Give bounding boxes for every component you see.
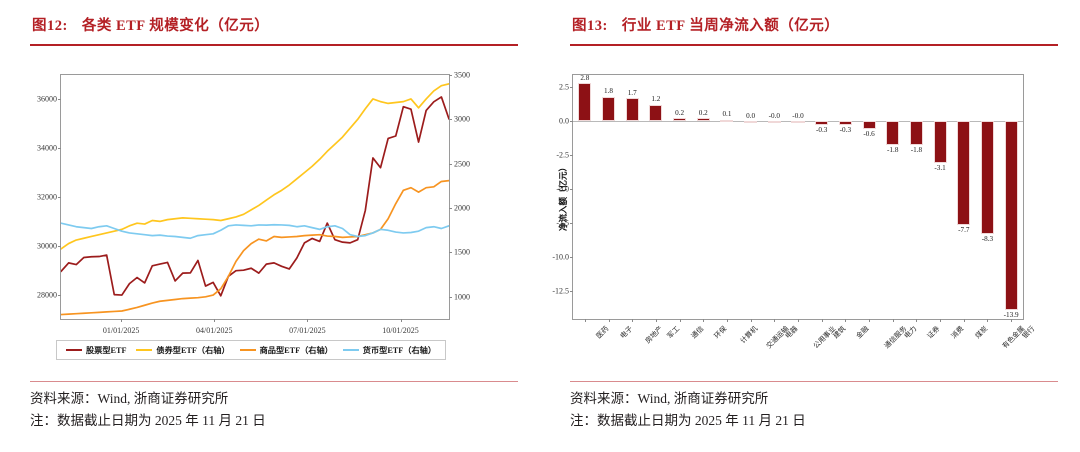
bar-y-axis-tick-label: -12.5 — [552, 286, 569, 295]
bar-category-label: 通信 — [689, 324, 706, 341]
bar-x-axis-tick-mark — [893, 319, 894, 322]
legend-item[interactable]: 商品型ETF（右轴） — [240, 344, 333, 356]
bar-x-axis-tick-mark — [585, 319, 586, 322]
bar-y-axis-tick-label: -2.5 — [556, 150, 569, 159]
bar-x-axis-tick-mark — [1011, 319, 1012, 322]
bar-value-label: 1.7 — [628, 89, 637, 97]
bar[interactable] — [981, 121, 994, 234]
figure-13-bottom-rule — [570, 381, 1058, 382]
figure-13-note: 注：数据截止日期为 2025 年 11 月 21 日 — [570, 410, 806, 432]
bar-value-label: -7.7 — [958, 226, 969, 234]
bar-y-axis-tick-label: -10.0 — [552, 252, 569, 261]
bar-x-axis-tick-mark — [727, 319, 728, 322]
figure-13-number: 图13: — [572, 18, 608, 34]
right-axis-tick-mark — [449, 208, 452, 209]
figure-12-title-text: 各类 ETF 规模变化（亿元） — [82, 18, 269, 34]
legend-label: 股票型ETF — [86, 344, 127, 356]
right-axis-tick-label: 1000 — [454, 292, 470, 301]
figure-12-title: 图12:各类 ETF 规模变化（亿元） — [32, 14, 269, 35]
bar-value-label: -0.0 — [792, 112, 803, 120]
bar-x-axis-tick-mark — [656, 319, 657, 322]
bar[interactable] — [673, 118, 686, 121]
bar-y-axis-tick-mark — [570, 87, 573, 88]
bar-category-label: 煤炭 — [973, 324, 990, 341]
line-series — [61, 84, 449, 249]
bar-value-label: 1.8 — [604, 87, 613, 95]
bar-category-label: 金融 — [854, 324, 871, 341]
report-figure-page: 图12:各类 ETF 规模变化（亿元） 28000300003200034000… — [0, 0, 1080, 452]
bar-y-axis-tick-mark — [570, 257, 573, 258]
figure-13-source: 资料来源：Wind, 浙商证券研究所 — [570, 388, 806, 410]
bar[interactable] — [578, 83, 591, 121]
bar[interactable] — [839, 121, 852, 125]
right-axis-tick-label: 1500 — [454, 248, 470, 257]
bar-x-axis-tick-mark — [869, 319, 870, 322]
figure-13-title: 图13:行业 ETF 当周净流入额（亿元） — [572, 14, 839, 35]
bar[interactable] — [720, 120, 733, 122]
bar[interactable] — [626, 98, 639, 121]
bar-x-axis-tick-mark — [751, 319, 752, 322]
bar[interactable] — [886, 121, 899, 145]
bar[interactable] — [649, 105, 662, 121]
bar-x-axis-tick-mark — [798, 319, 799, 322]
figure-12-source: 资料来源：Wind, 浙商证券研究所 — [30, 388, 266, 410]
bar[interactable] — [863, 121, 876, 129]
bar-value-label: -0.0 — [769, 112, 780, 120]
legend-label: 商品型ETF（右轴） — [260, 344, 333, 356]
bar[interactable] — [602, 97, 615, 121]
figure-12-bottom-rule — [30, 381, 518, 382]
legend-swatch — [343, 349, 359, 351]
figure-12-panel: 图12:各类 ETF 规模变化（亿元） 28000300003200034000… — [0, 0, 540, 452]
bar-x-axis-tick-mark — [845, 319, 846, 322]
bar[interactable] — [1005, 121, 1018, 309]
bar-value-label: 1.2 — [651, 95, 660, 103]
figure-12-note: 注：数据截止日期为 2025 年 11 月 21 日 — [30, 410, 266, 432]
x-axis-tick-mark — [214, 319, 215, 322]
figure-13-panel: 图13:行业 ETF 当周净流入额（亿元） 2.81.81.71.20.20.2… — [540, 0, 1080, 452]
bar-x-axis-tick-mark — [609, 319, 610, 322]
bar-category-label: 房地产 — [643, 324, 665, 346]
bar-value-label: -3.1 — [934, 164, 945, 172]
x-axis-tick-label: 07/01/2025 — [289, 326, 325, 335]
x-axis-tick-label: 10/01/2025 — [382, 326, 418, 335]
bar-y-axis-tick-mark — [570, 121, 573, 122]
bar-value-label: -0.3 — [840, 126, 851, 134]
line-series — [61, 223, 449, 238]
right-axis-tick-label: 2000 — [454, 204, 470, 213]
bar[interactable] — [910, 121, 923, 145]
line-series-layer — [61, 75, 449, 319]
legend-label: 债券型ETF（右轴） — [156, 344, 229, 356]
x-axis-tick-label: 01/01/2025 — [103, 326, 139, 335]
bar-y-axis-tick-mark — [570, 291, 573, 292]
bar-y-axis-title: 净流入额（亿元） — [557, 163, 569, 231]
bar-value-label: -0.6 — [863, 130, 874, 138]
bar-x-axis-tick-mark — [632, 319, 633, 322]
bar[interactable] — [815, 121, 828, 125]
line-chart-legend: 股票型ETF债券型ETF（右轴）商品型ETF（右轴）货币型ETF（右轴） — [56, 340, 446, 360]
line-series — [61, 97, 449, 296]
bar-x-axis-tick-mark — [964, 319, 965, 322]
bar-x-axis-tick-mark — [940, 319, 941, 322]
right-axis-tick-mark — [449, 75, 452, 76]
bar-value-label: -1.8 — [911, 146, 922, 154]
bar-value-label: -0.3 — [816, 126, 827, 134]
left-axis-tick-label: 28000 — [37, 290, 57, 299]
bar-category-label: 环保 — [712, 324, 729, 341]
bar-category-label: 军工 — [665, 324, 682, 341]
bar-x-axis-tick-mark — [822, 319, 823, 322]
right-axis-tick-label: 2500 — [454, 159, 470, 168]
bar-value-label: 2.8 — [580, 74, 589, 82]
bar-value-label: -1.8 — [887, 146, 898, 154]
left-axis-tick-label: 30000 — [37, 241, 57, 250]
bar-category-label: 计算机 — [738, 324, 760, 346]
bar-value-label: 0.2 — [675, 109, 684, 117]
figure-13-top-rule — [570, 44, 1058, 46]
bar-x-axis-tick-mark — [916, 319, 917, 322]
bar[interactable] — [697, 118, 710, 121]
x-axis-tick-mark — [121, 319, 122, 322]
bar-x-axis-tick-mark — [703, 319, 704, 322]
legend-swatch — [66, 349, 82, 351]
bar-x-axis-tick-mark — [987, 319, 988, 322]
legend-label: 货币型ETF（右轴） — [363, 344, 436, 356]
bar-value-label: -8.3 — [982, 235, 993, 243]
right-axis-tick-mark — [449, 252, 452, 253]
bar-category-label: 医药 — [594, 324, 611, 341]
bar-x-axis-tick-mark — [680, 319, 681, 322]
bar-value-label: 0.0 — [746, 112, 755, 120]
bar-category-label: 证券 — [926, 324, 943, 341]
bar-value-label: 0.1 — [722, 110, 731, 118]
bar[interactable] — [934, 121, 947, 163]
x-axis-tick-mark — [401, 319, 402, 322]
bar-x-axis-tick-mark — [774, 319, 775, 322]
legend-item[interactable]: 债券型ETF（右轴） — [136, 344, 229, 356]
bar[interactable] — [791, 121, 804, 123]
left-axis-tick-label: 34000 — [37, 144, 57, 153]
x-axis-tick-label: 04/01/2025 — [196, 326, 232, 335]
bar-y-axis-tick-mark — [570, 223, 573, 224]
bar-y-axis-tick-label: 2.5 — [559, 83, 569, 92]
legend-item[interactable]: 股票型ETF — [66, 344, 127, 356]
legend-item[interactable]: 货币型ETF（右轴） — [343, 344, 436, 356]
figure-12-top-rule — [30, 44, 518, 46]
right-axis-tick-label: 3500 — [454, 71, 470, 80]
right-axis-tick-label: 3000 — [454, 115, 470, 124]
bar-value-label: -13.9 — [1004, 311, 1019, 319]
left-axis-tick-label: 32000 — [37, 193, 57, 202]
figure-12-number: 图12: — [32, 18, 68, 34]
right-axis-tick-mark — [449, 119, 452, 120]
bar-y-axis-tick-mark — [570, 155, 573, 156]
bar-category-label: 电子 — [618, 324, 635, 341]
x-axis-tick-mark — [307, 319, 308, 322]
etf-scale-line-chart: 2800030000320003400036000100015002000250… — [60, 74, 450, 320]
figure-13-title-text: 行业 ETF 当周净流入额（亿元） — [622, 18, 839, 34]
legend-swatch — [240, 349, 256, 351]
legend-swatch — [136, 349, 152, 351]
right-axis-tick-mark — [449, 164, 452, 165]
bar[interactable] — [768, 121, 781, 123]
left-axis-tick-label: 36000 — [37, 95, 57, 104]
figure-12-footer: 资料来源：Wind, 浙商证券研究所 注：数据截止日期为 2025 年 11 月… — [30, 388, 266, 433]
bar-category-label: 消费 — [949, 324, 966, 341]
bar-value-label: 0.2 — [699, 109, 708, 117]
bar[interactable] — [744, 121, 757, 123]
bar[interactable] — [957, 121, 970, 225]
right-axis-tick-mark — [449, 297, 452, 298]
bars-layer: 2.81.81.71.20.20.20.10.0-0.0-0.0-0.3-0.3… — [573, 75, 1023, 319]
figure-13-footer: 资料来源：Wind, 浙商证券研究所 注：数据截止日期为 2025 年 11 月… — [570, 388, 806, 433]
bar-y-axis-tick-label: 0.0 — [559, 117, 569, 126]
industry-etf-bar-chart: 2.81.81.71.20.20.20.10.0-0.0-0.0-0.3-0.3… — [572, 74, 1024, 320]
bar-y-axis-tick-mark — [570, 189, 573, 190]
